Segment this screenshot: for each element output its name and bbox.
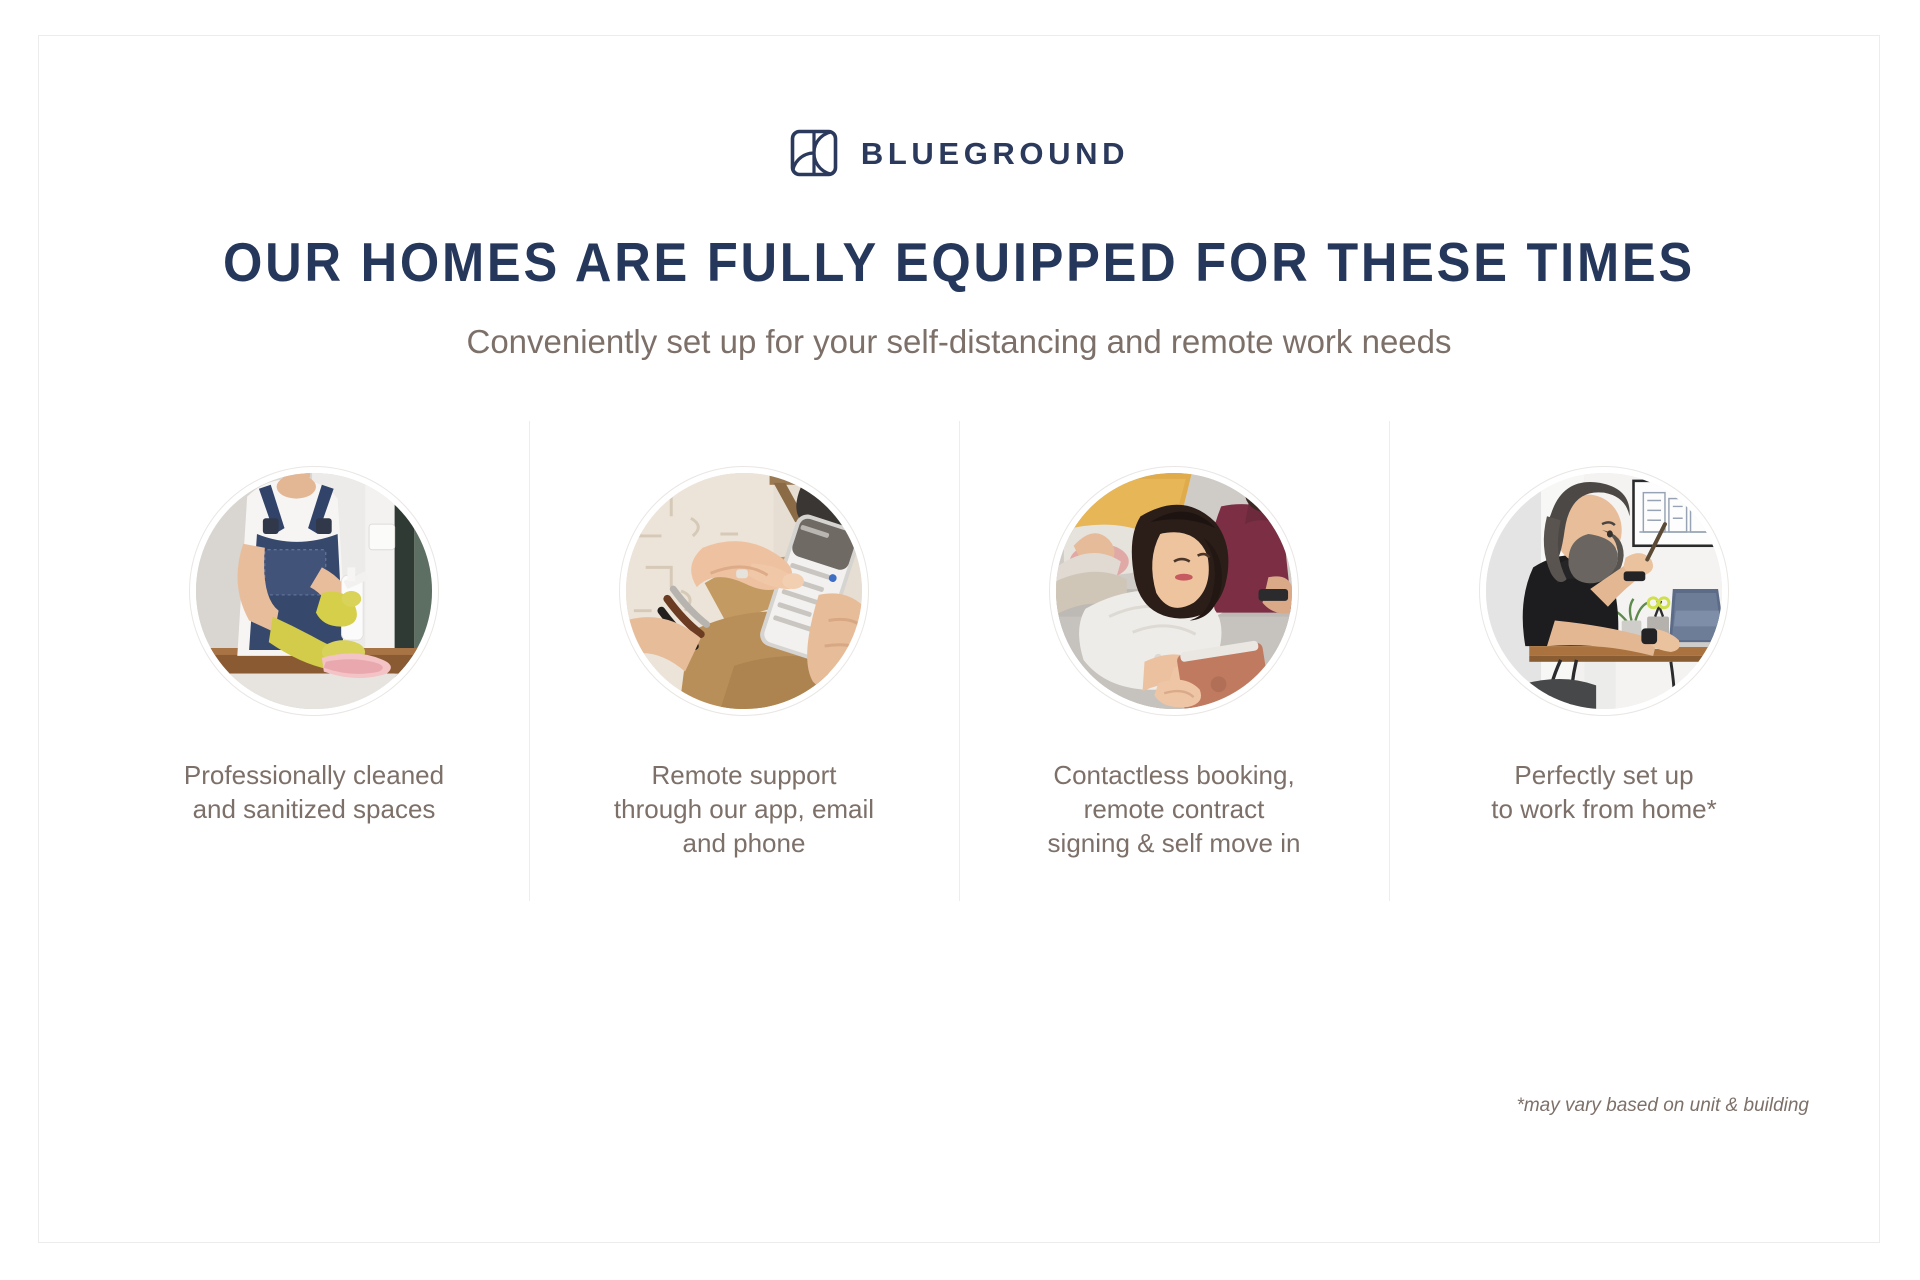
hands-using-smartphone-photo	[626, 473, 862, 709]
man-working-at-desk-photo	[1486, 473, 1722, 709]
caption-line: remote contract	[1048, 793, 1301, 827]
photo-ring	[1049, 466, 1299, 716]
feature-caption: Remote support through our app, email an…	[614, 759, 874, 860]
brand-lockup: BLUEGROUND	[39, 128, 1879, 178]
caption-line: and sanitized spaces	[184, 793, 444, 827]
page-subtitle: Conveniently set up for your self-distan…	[39, 321, 1879, 364]
feature-caption: Contactless booking, remote contract sig…	[1048, 759, 1301, 860]
brand-wordmark: BLUEGROUND	[861, 138, 1129, 169]
feature-card-work-from-home: Perfectly set up to work from home*	[1389, 421, 1819, 901]
feature-card-contactless-booking: Contactless booking, remote contract sig…	[959, 421, 1389, 901]
feature-card-remote-support: Remote support through our app, email an…	[529, 421, 959, 901]
caption-line: through our app, email	[614, 793, 874, 827]
caption-line: signing & self move in	[1048, 827, 1301, 861]
feature-card-cleaning: Professionally cleaned and sanitized spa…	[99, 421, 529, 901]
caption-line: Contactless booking,	[1048, 759, 1301, 793]
photo-ring	[1479, 466, 1729, 716]
caption-line: Professionally cleaned	[184, 759, 444, 793]
caption-line: to work from home*	[1491, 793, 1716, 827]
caption-line: Perfectly set up	[1491, 759, 1716, 793]
feature-caption: Perfectly set up to work from home*	[1491, 759, 1716, 827]
cleaner-wiping-counter-photo	[196, 473, 432, 709]
blueground-logo-icon	[789, 128, 839, 178]
page-title: OUR HOMES ARE FULLY EQUIPPED FOR THESE T…	[113, 232, 1806, 293]
photo-ring	[189, 466, 439, 716]
poster-frame: BLUEGROUND OUR HOMES ARE FULLY EQUIPPED …	[38, 35, 1880, 1243]
footnote: *may vary based on unit & building	[1516, 1095, 1809, 1117]
caption-line: Remote support	[614, 759, 874, 793]
photo-ring	[619, 466, 869, 716]
feature-cards: Professionally cleaned and sanitized spa…	[99, 421, 1819, 901]
feature-caption: Professionally cleaned and sanitized spa…	[184, 759, 444, 827]
woman-on-bed-with-tablet-photo	[1056, 473, 1292, 709]
caption-line: and phone	[614, 827, 874, 861]
